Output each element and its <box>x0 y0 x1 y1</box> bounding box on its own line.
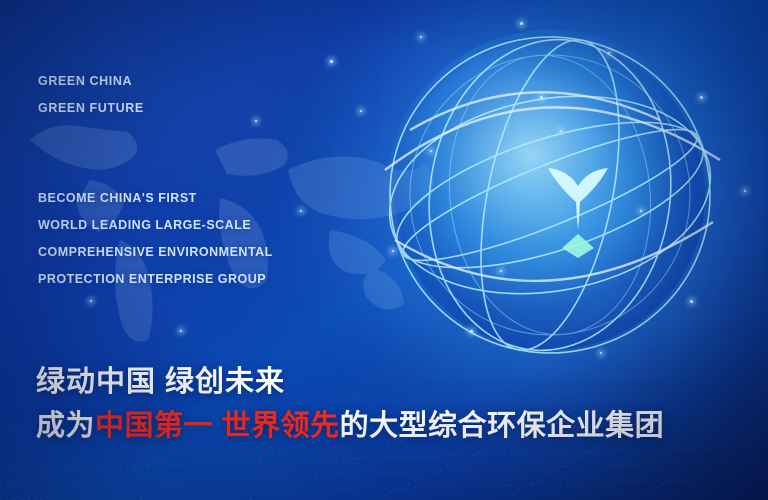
hero-banner: GREEN CHINA GREEN FUTURE BECOME CHINA'S … <box>0 0 768 500</box>
subline-prefix: 成为 <box>36 410 95 442</box>
eyebrow-line-2: GREEN FUTURE <box>38 95 144 122</box>
english-line-4: PROTECTION ENTERPRISE GROUP <box>38 266 273 293</box>
subline-accent: 中国第一 世界领先 <box>95 410 340 442</box>
eyebrow-text: GREEN CHINA GREEN FUTURE <box>38 68 144 122</box>
eyebrow-line-1: GREEN CHINA <box>38 68 144 95</box>
english-tagline: BECOME CHINA'S FIRST WORLD LEADING LARGE… <box>38 185 273 293</box>
subline-suffix: 的大型综合环保企业集团 <box>340 410 665 442</box>
headline-chinese: 绿动中国 绿创未来 <box>36 368 285 397</box>
english-line-1: BECOME CHINA'S FIRST <box>38 185 273 212</box>
english-line-3: COMPREHENSIVE ENVIRONMENTAL <box>38 239 273 266</box>
english-line-2: WORLD LEADING LARGE-SCALE <box>38 212 273 239</box>
subline-chinese: 成为中国第一 世界领先的大型综合环保企业集团 <box>36 412 664 441</box>
